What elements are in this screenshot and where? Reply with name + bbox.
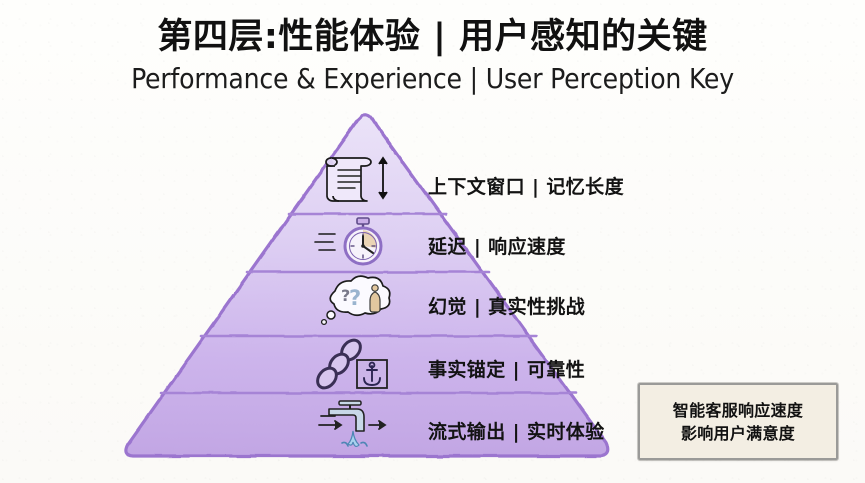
pyramid-diagram: 上下文窗口 | 记忆长度 — [108, 110, 628, 470]
page-title-english: Performance & Experience | User Percepti… — [0, 60, 865, 98]
stopwatch-icon — [313, 214, 399, 270]
callout-note-line-1: 智能客服响应速度 — [673, 399, 803, 422]
callout-note-line-2: 影响用户满意度 — [681, 422, 795, 445]
thought-bubble-question-icon: ? ? — [313, 275, 399, 331]
chain-anchor-icon — [313, 336, 399, 392]
header: 第四层:性能体验 | 用户感知的关键 Performance & Experie… — [0, 14, 865, 98]
pyramid-level-3-label: 幻觉 | 真实性挑战 — [428, 292, 585, 319]
scroll-icon — [313, 150, 399, 206]
pyramid-level-1-label: 上下文窗口 | 记忆长度 — [428, 172, 624, 199]
svg-text:?: ? — [349, 286, 361, 310]
pyramid-level-4-label: 事实锚定 | 可靠性 — [428, 355, 585, 382]
pyramid-level-2-label: 延迟 | 响应速度 — [428, 232, 566, 259]
callout-note: 智能客服响应速度 影响用户满意度 — [638, 383, 838, 460]
pyramid-level-5-label: 流式输出 | 实时体验 — [428, 417, 605, 444]
page-title-chinese: 第四层:性能体验 | 用户感知的关键 — [0, 14, 865, 60]
faucet-water-icon — [313, 398, 399, 454]
